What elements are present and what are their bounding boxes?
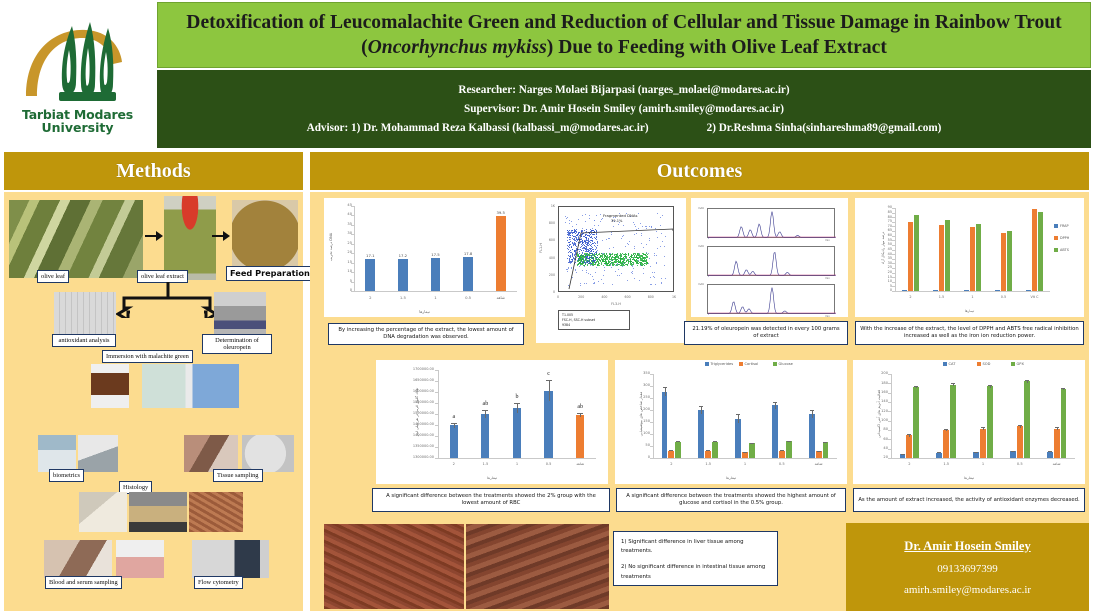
- y-tick: 25: [338, 241, 352, 245]
- bar: [735, 419, 741, 458]
- y-tick: 1550000.00: [392, 400, 434, 404]
- y-tickmark: [892, 236, 895, 237]
- bar-value-label: 17.2: [393, 253, 413, 258]
- logo-wordmark: Tarbiat Modares University: [12, 108, 144, 134]
- x-axis-label: تیمارها: [376, 476, 608, 480]
- rbc-count-plot: 1300000.001350000.001400000.001450000.00…: [376, 360, 608, 484]
- y-tickmark: [888, 458, 891, 459]
- y-tickmark: [351, 206, 354, 207]
- bar: [450, 425, 458, 458]
- bar: [742, 452, 748, 458]
- caption-oleuropein: 21.19% of oleuropein was detected in eve…: [684, 321, 848, 345]
- bar: [1047, 452, 1053, 458]
- contact-phone: 09133697399: [937, 563, 998, 575]
- chart-blood-biochemistry: 05010015020025030035021.510.5شاهدTriglyc…: [615, 360, 847, 484]
- significance-letter: ab: [570, 404, 590, 410]
- section-header-methods: Methods: [4, 152, 303, 190]
- bar: [779, 451, 785, 458]
- x-tick: 1.5: [926, 462, 966, 466]
- bar: [943, 430, 949, 458]
- legend-label: CAT: [949, 362, 956, 366]
- x-tick: 0.5: [1000, 462, 1040, 466]
- hplc-y-unit-3: mAU: [698, 283, 704, 286]
- error-bar: [812, 410, 813, 419]
- bar: [749, 443, 755, 458]
- y-tickmark: [435, 381, 438, 382]
- error-bar-cap: [787, 441, 791, 442]
- bar: [914, 215, 919, 291]
- label-biometrics: biometrics: [49, 469, 84, 482]
- y-axis-label: مقدار شاخص های بیوشیمیایی: [639, 374, 643, 454]
- y-tickmark: [650, 458, 653, 459]
- label-feed-preparation: Feed Preparation: [226, 266, 314, 281]
- x-axis: [653, 458, 837, 459]
- x-tick: 0.5: [762, 462, 802, 466]
- photo-histology-intestine: [466, 524, 609, 609]
- legend-item: Glucose: [773, 362, 793, 366]
- photo-tissue-sampling-2: [242, 435, 294, 472]
- x-tick: شاهد: [799, 462, 839, 466]
- y-tickmark: [888, 374, 891, 375]
- error-bar-cap: [974, 452, 978, 453]
- histology-note-2: 2) No significant difference in intestin…: [621, 563, 770, 581]
- y-tickmark: [435, 403, 438, 404]
- legend-item: Cortisol: [739, 362, 759, 366]
- y-tickmark: [351, 282, 354, 283]
- caption-blood-biochemistry: A significant difference between the tre…: [616, 488, 846, 512]
- x-axis-label: تیمارها: [855, 309, 1084, 313]
- legend-swatch: [773, 362, 777, 366]
- error-bar: [485, 410, 486, 418]
- bar: [995, 290, 1000, 291]
- bar: [809, 414, 815, 458]
- x-tick: 0.5: [536, 462, 560, 466]
- y-axis: [438, 370, 439, 458]
- error-bar-cap: [663, 387, 667, 388]
- x-tick: 0: [551, 295, 565, 299]
- y-tickmark: [892, 250, 895, 251]
- x-tick: 2: [890, 462, 930, 466]
- bar: [945, 220, 950, 291]
- hplc-trace-1: [708, 209, 836, 244]
- chart-rbc-count: 1300000.001350000.001400000.001450000.00…: [376, 360, 608, 484]
- y-tickmark: [892, 291, 895, 292]
- error-bar-cap: [1011, 451, 1015, 452]
- title-part-2: ) Due to Feeding with Olive Leaf Extract: [547, 37, 887, 58]
- bar: [705, 451, 711, 458]
- x-tick: 200: [574, 295, 588, 299]
- y-tickmark: [650, 446, 653, 447]
- legend-swatch: [977, 362, 981, 366]
- error-bar: [517, 403, 518, 413]
- error-bar-cap: [981, 427, 985, 428]
- bar: [1061, 389, 1067, 458]
- chart-antioxidant-capacity: 05101520253035404550556065707580859021.5…: [855, 198, 1084, 317]
- bar: [933, 290, 938, 291]
- y-tickmark: [892, 254, 895, 255]
- y-tick: 1450000.00: [392, 422, 434, 426]
- hplc-y-unit-1: mAU: [698, 207, 704, 210]
- bar: [1001, 233, 1006, 291]
- y-tickmark: [892, 273, 895, 274]
- y-tickmark: [892, 286, 895, 287]
- y-tick: 1400000.00: [392, 433, 434, 437]
- logo-graphic: Tarbiat Modares University: [12, 12, 144, 136]
- bar: [908, 222, 913, 291]
- photo-malachite-green-bottle: [91, 364, 129, 408]
- error-bar-cap: [669, 450, 673, 451]
- y-tick: 35: [338, 222, 352, 226]
- y-tick: 45: [338, 203, 352, 207]
- y-tickmark: [351, 272, 354, 273]
- section-header-outcomes: Outcomes: [310, 152, 1089, 190]
- y-tick: 0: [338, 288, 352, 292]
- y-tickmark: [351, 263, 354, 264]
- bar: [936, 453, 942, 458]
- x-tick: 1.5: [473, 462, 497, 466]
- error-bar-cap: [451, 423, 457, 424]
- x-tick: 1K: [667, 295, 681, 299]
- bar: [1007, 231, 1012, 291]
- y-tickmark: [650, 422, 653, 423]
- advisor-1: Advisor: 1) Dr. Mohammad Reza Kalbassi (…: [307, 122, 649, 134]
- y-tickmark: [650, 398, 653, 399]
- bar: [576, 415, 584, 458]
- contact-email[interactable]: amirh.smiley@modares.ac.ir: [904, 584, 1031, 596]
- y-axis: [891, 374, 892, 458]
- bar: [712, 442, 718, 458]
- y-tick: 1700000.00: [392, 367, 434, 371]
- y-axis-label: فعالیت آنزیم های آنتی اکسیدانی: [877, 374, 881, 454]
- y-tickmark: [888, 439, 891, 440]
- y-tick: 20: [338, 250, 352, 254]
- y-tick: 1350000.00: [392, 444, 434, 448]
- y-axis-label: تعداد گلبول قرمز در هر میلی لیتر: [415, 375, 419, 449]
- bar: [463, 257, 473, 291]
- error-bar-cap: [1061, 388, 1065, 389]
- error-bar-cap: [951, 383, 955, 384]
- y-tickmark: [435, 436, 438, 437]
- hplc-trace-2: [708, 247, 836, 282]
- bar: [662, 392, 668, 458]
- x-tick: 1: [963, 462, 1003, 466]
- arrow-extract-to-feed: [212, 230, 230, 242]
- legend-swatch: [1011, 362, 1015, 366]
- x-axis-label: تیمارها: [324, 309, 525, 314]
- bar: [973, 452, 979, 458]
- outcomes-title: Outcomes: [657, 160, 743, 183]
- y-axis: [895, 208, 896, 291]
- bar: [913, 387, 919, 458]
- y-tick: 20: [873, 455, 888, 459]
- scatter-legend-box: T1.005FSC-H, SSC-H subset9384: [558, 310, 630, 330]
- x-tick: 1.5: [390, 295, 416, 300]
- y-tickmark: [435, 414, 438, 415]
- x-axis-label: تیمارها: [853, 476, 1085, 480]
- y-tickmark: [888, 393, 891, 394]
- bar: [976, 224, 981, 291]
- bar: [1017, 426, 1023, 458]
- photo-feed-preparation: [232, 200, 298, 272]
- poster-title: Detoxification of Leucomalachite Green a…: [172, 10, 1076, 60]
- bar: [964, 290, 969, 291]
- chart-dna-degradation: 05101520253035404517.1217.21.517.5117.80…: [324, 198, 525, 317]
- x-tick: 1.5: [688, 462, 728, 466]
- error-bar-cap: [780, 450, 784, 451]
- y-tick: 15: [338, 260, 352, 264]
- y-tickmark: [888, 411, 891, 412]
- error-bar-cap: [1048, 451, 1052, 452]
- significance-letter: b: [507, 394, 527, 400]
- y-tickmark: [435, 370, 438, 371]
- bar: [772, 405, 778, 458]
- y-tickmark: [892, 240, 895, 241]
- bar: [970, 227, 975, 291]
- caption-rbc: A significant difference between the tre…: [372, 488, 610, 512]
- bar: [496, 216, 506, 291]
- label-olive-leaf-extract: olive leaf extract: [137, 270, 188, 283]
- bar: [1054, 429, 1060, 458]
- y-tickmark: [892, 277, 895, 278]
- contact-block: Dr. Amir Hosein Smiley 09133697399 amirh…: [846, 523, 1089, 611]
- bar: [1026, 290, 1031, 291]
- error-bar-cap: [907, 434, 911, 435]
- y-tickmark: [892, 282, 895, 283]
- y-tick: 0: [877, 288, 892, 292]
- x-tick: 600: [621, 295, 635, 299]
- y-tickmark: [351, 291, 354, 292]
- hplc-trace-3: [708, 285, 836, 320]
- photo-blood-sampling: [44, 540, 112, 578]
- significance-letter: a: [444, 414, 464, 420]
- x-tick: Vit C: [1016, 295, 1053, 299]
- hplc-plot: minmAU minmAU minmAU: [691, 198, 848, 317]
- y-tickmark: [892, 263, 895, 264]
- authors-bar: Researcher: Narges Molaei Bijarpasi (nar…: [157, 70, 1091, 148]
- y-tick: 200: [540, 273, 555, 277]
- advisor-2: 2) Dr.Reshma Sinha(sinhareshma89@gmail.c…: [707, 122, 942, 134]
- significance-letter: c: [538, 371, 558, 377]
- methods-panel: olive leaf olive leaf extract Feed Prepa…: [4, 192, 303, 611]
- bar: [786, 441, 792, 458]
- y-tick: 1300000.00: [392, 455, 434, 459]
- bar-value-label: 17.5: [426, 252, 446, 257]
- y-tickmark: [892, 226, 895, 227]
- error-bar: [701, 406, 702, 413]
- label-tissue-sampling: Tissue sampling: [213, 469, 263, 482]
- bar: [675, 442, 681, 458]
- error-bar-cap: [937, 452, 941, 453]
- photo-serum-tubes: [116, 540, 164, 578]
- error-bar-cap: [713, 441, 717, 442]
- gate-value: 39.1%: [611, 219, 622, 223]
- caption-antioxidant-enzymes: As the amount of extract increased, the …: [853, 488, 1085, 512]
- y-tickmark: [650, 386, 653, 387]
- error-bar-cap: [736, 414, 740, 415]
- x-tick: 1: [725, 462, 765, 466]
- hplc-x-unit-1: min: [825, 239, 830, 242]
- scatter-plot-area: Fragmented DNAs39.1%: [558, 206, 674, 292]
- x-tick: شاهد: [568, 462, 592, 466]
- y-tickmark: [892, 222, 895, 223]
- y-tick: 1600000.00: [392, 389, 434, 393]
- significance-letter: ab: [475, 401, 495, 407]
- advisor-line: Advisor: 1) Dr. Mohammad Reza Kalbassi (…: [307, 122, 942, 134]
- y-tick: 30: [338, 231, 352, 235]
- error-bar-cap: [482, 410, 488, 411]
- x-tick: 800: [644, 295, 658, 299]
- histology-note-1: 1) Significant difference in liver tissu…: [621, 538, 770, 556]
- legend-item: CAT: [943, 362, 956, 366]
- legend-label: FRAP: [1060, 224, 1069, 228]
- legend-label: DPPH: [1060, 236, 1069, 240]
- legend-swatch: [943, 362, 947, 366]
- contact-name: Dr. Amir Hosein Smiley: [904, 539, 1030, 554]
- legend-label: Glucose: [779, 362, 793, 366]
- y-axis-label: درصد مهار رادیکال آزاد: [881, 208, 885, 288]
- x-axis: [438, 458, 596, 459]
- bar: [398, 259, 408, 291]
- photo-histology-liver: [324, 524, 464, 609]
- x-tick: 1: [423, 295, 449, 300]
- gate-label: Fragmented DNAs: [603, 213, 637, 218]
- bar: [1010, 451, 1016, 458]
- error-bar-cap: [810, 410, 814, 411]
- photo-immersion-tanks: [142, 364, 239, 408]
- y-tickmark: [435, 392, 438, 393]
- error-bar: [549, 380, 550, 401]
- bar: [823, 442, 829, 458]
- error-bar-cap: [546, 380, 552, 381]
- y-tick: 0: [540, 290, 555, 294]
- error-bar-cap: [944, 429, 948, 430]
- y-axis: [653, 374, 654, 458]
- bar: [481, 414, 489, 458]
- hplc-x-unit-2: min: [825, 277, 830, 280]
- y-tickmark: [351, 215, 354, 216]
- error-bar-cap: [676, 441, 680, 442]
- y-tickmark: [892, 208, 895, 209]
- y-tick: 5: [338, 279, 352, 283]
- legend-swatch: [1054, 248, 1058, 252]
- error-bar-cap: [514, 403, 520, 404]
- y-tickmark: [892, 245, 895, 246]
- x-axis-label: تیمارها: [615, 476, 847, 480]
- photo-biometrics-scale: [38, 435, 76, 472]
- x-tick: شاهد: [488, 295, 514, 300]
- y-tickmark: [650, 374, 653, 375]
- y-tickmark: [435, 458, 438, 459]
- photo-histology-tissue-blocks: [79, 492, 127, 532]
- y-tickmark: [888, 402, 891, 403]
- photo-tissue-sampling-1: [184, 435, 238, 472]
- x-tick: شاهد: [1037, 462, 1077, 466]
- x-axis-label: FL3-H: [558, 302, 674, 306]
- y-tickmark: [888, 430, 891, 431]
- y-axis-label: FL1-H: [539, 235, 543, 261]
- photo-flow-cytometer: [192, 540, 269, 578]
- arrow-leaf-to-extract: [145, 230, 163, 242]
- supervisor-line: Supervisor: Dr. Amir Hosein Smiley (amir…: [464, 103, 784, 115]
- photo-olive-leaf-extract: [164, 196, 216, 280]
- photo-histology-slide: [189, 492, 243, 532]
- y-tickmark: [892, 213, 895, 214]
- y-tick: 10: [338, 269, 352, 273]
- photo-biometrics-fish: [78, 435, 118, 472]
- y-tickmark: [650, 434, 653, 435]
- y-tickmark: [888, 383, 891, 384]
- legend-label: SOD: [983, 362, 991, 366]
- chart-flow-cytometry: Fragmented DNAs39.1%02004006008001K02004…: [536, 198, 686, 343]
- photo-oleuropein-determination: [214, 292, 266, 338]
- x-tick: 400: [597, 295, 611, 299]
- bar: [698, 410, 704, 458]
- y-tickmark: [892, 217, 895, 218]
- bar: [902, 290, 907, 291]
- legend-item: SOD: [977, 362, 991, 366]
- dna-degradation-plot: 05101520253035404517.1217.21.517.5117.80…: [324, 198, 525, 317]
- label-oleuropein-determination: Determination of oleuropein: [202, 334, 272, 354]
- error-bar-cap: [1018, 425, 1022, 426]
- bar-value-label: 39.5: [491, 210, 511, 215]
- x-tick: 2: [442, 462, 466, 466]
- bar: [950, 385, 956, 458]
- error-bar-cap: [823, 442, 827, 443]
- y-tickmark: [888, 449, 891, 450]
- y-tickmark: [351, 234, 354, 235]
- y-tickmark: [435, 425, 438, 426]
- error-bar-cap: [1025, 380, 1029, 381]
- photo-microtome: [129, 492, 187, 532]
- x-tick: 1: [505, 462, 529, 466]
- bar: [513, 408, 521, 458]
- error-bar-cap: [773, 402, 777, 403]
- y-tickmark: [650, 410, 653, 411]
- bar: [987, 386, 993, 458]
- x-axis: [891, 458, 1075, 459]
- y-tickmark: [888, 421, 891, 422]
- error-bar-cap: [577, 413, 583, 414]
- y-tick: 1K: [540, 204, 555, 208]
- label-flow-cytometry: Flow cytometry: [194, 576, 243, 589]
- poster-title-bar: Detoxification of Leucomalachite Green a…: [157, 2, 1091, 68]
- label-olive-leaf: olive leaf: [37, 270, 69, 283]
- hplc-x-unit-3: min: [825, 315, 830, 318]
- antioxidant-capacity-plot: 05101520253035404550556065707580859021.5…: [855, 198, 1084, 317]
- y-tickmark: [351, 244, 354, 245]
- y-tick: 0: [635, 455, 650, 459]
- legend-swatch: [739, 362, 743, 366]
- legend-item: GPX: [1011, 362, 1024, 366]
- chart-hplc-oleuropein: minmAU minmAU minmAU: [691, 198, 848, 317]
- scatter-legend-line: 9384: [562, 323, 626, 328]
- error-bar: [775, 402, 776, 409]
- bar: [906, 435, 912, 458]
- hplc-y-unit-2: mAU: [698, 245, 704, 248]
- y-tick: 800: [540, 221, 555, 225]
- legend-item: DPPH: [1054, 236, 1069, 240]
- arrow-extract-branch: [110, 282, 220, 318]
- bar: [365, 259, 375, 291]
- poster-root: Tarbiat Modares University Detoxificatio…: [0, 0, 1093, 614]
- flow-cytometry-plot: Fragmented DNAs39.1%02004006008001K02004…: [536, 198, 686, 343]
- x-axis: [354, 291, 517, 292]
- bar: [900, 454, 906, 458]
- bar: [980, 429, 986, 458]
- legend-item: Triglycerides: [705, 362, 734, 366]
- researcher-line: Researcher: Narges Molaei Bijarpasi (nar…: [458, 84, 789, 96]
- y-tick: 1650000.00: [392, 378, 434, 382]
